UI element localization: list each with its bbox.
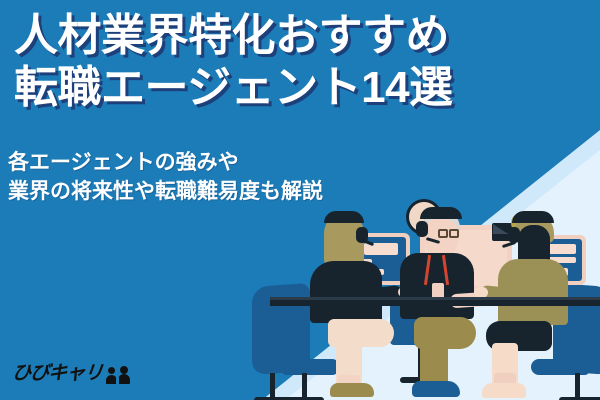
headline: 人材業界特化おすすめ 転職エージェント14選 bbox=[14, 10, 574, 114]
agent-center-glasses-lens-right bbox=[449, 229, 459, 238]
agent-left-headset-band-icon bbox=[324, 211, 364, 223]
desk-surface-highlight bbox=[270, 297, 600, 300]
agent-right-ponytail bbox=[488, 213, 584, 399]
agent-center-glasses-lens-left bbox=[438, 229, 448, 238]
person-glyph-right bbox=[118, 366, 130, 384]
banner-canvas: 人材業界特化おすすめ 転職エージェント14選 各エージェントの強みや 業界の将来… bbox=[0, 0, 600, 400]
brand-logo-text: ひびキャリ bbox=[11, 364, 103, 384]
agent-center-headset-band-icon bbox=[420, 207, 462, 219]
person-glyph-divider bbox=[116, 377, 119, 384]
headline-line-1: 人材業界特化おすすめ bbox=[14, 11, 449, 60]
brand-logo[interactable]: ひびキャリ bbox=[12, 364, 132, 384]
headline-line-2: 転職エージェント14選 bbox=[14, 62, 574, 114]
two-people-icon bbox=[106, 366, 132, 384]
agent-left-shoe bbox=[330, 383, 374, 397]
call-center-team-illustration: 11 bbox=[280, 185, 600, 400]
agent-center-shoe bbox=[412, 381, 460, 397]
subtitle-line-1: 各エージェントの強みや bbox=[8, 148, 448, 177]
agent-right-shoe bbox=[482, 383, 526, 398]
person-glyph-right-body bbox=[118, 374, 130, 384]
chair-left-post-2 bbox=[270, 373, 275, 400]
person-glyph-left-head bbox=[108, 367, 115, 374]
agent-right-headset-mic-icon bbox=[502, 241, 516, 248]
agent-right-headset-band-icon bbox=[512, 211, 554, 223]
agent-center-headset-earcup-icon bbox=[416, 221, 428, 237]
person-glyph-right-head bbox=[120, 366, 128, 374]
